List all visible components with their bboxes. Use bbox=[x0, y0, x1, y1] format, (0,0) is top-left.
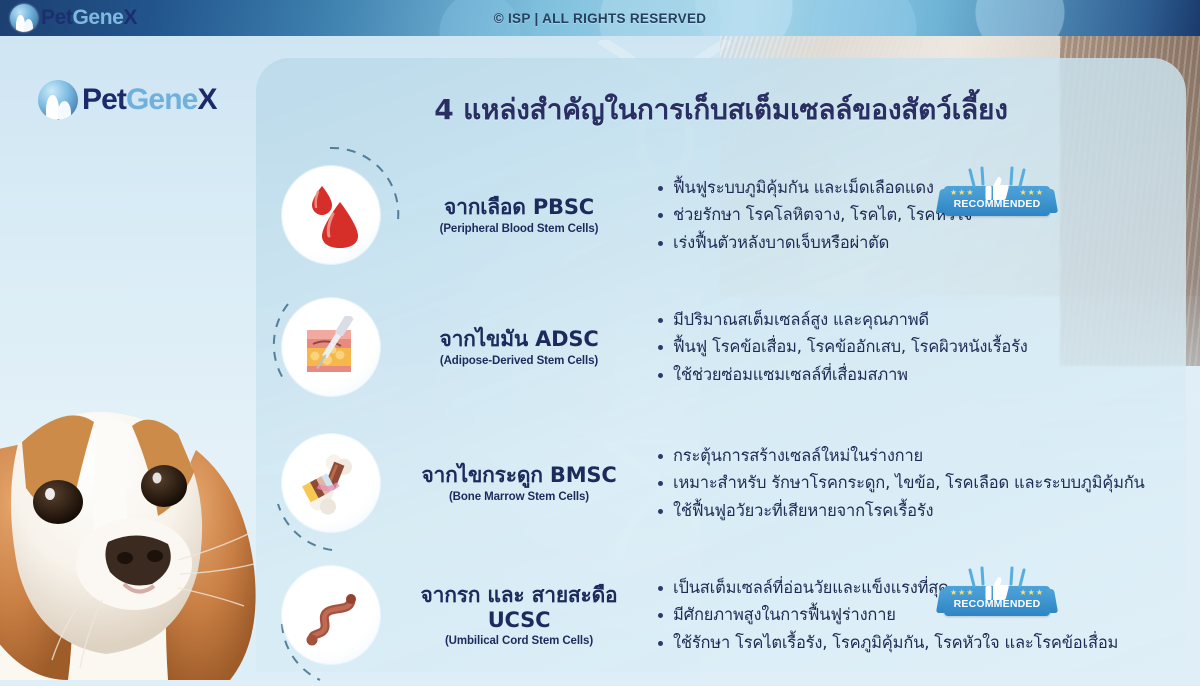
bullet-text: มีปริมาณสเต็มเซลล์สูง และคุณภาพดี bbox=[673, 309, 929, 330]
benefit-list-pbsc: ฟื้นฟูระบบภูมิคุ้มกัน และเม็ดเลือดแดง ช่… bbox=[636, 170, 1186, 259]
top-bar: © ISP | ALL RIGHTS RESERVED PetGeneX bbox=[0, 0, 1200, 36]
list-item: กระตุ้นการสร้างเซลล์ใหม่ในร่างกาย bbox=[658, 445, 1178, 466]
source-subtitle: (Bone Marrow Stem Cells) bbox=[406, 491, 632, 503]
bullet-text: กระตุ้นการสร้างเซลล์ใหม่ในร่างกาย bbox=[673, 445, 923, 466]
list-item: มีปริมาณสเต็มเซลล์สูง และคุณภาพดี bbox=[658, 309, 1178, 330]
topbar-logo-x-text: X bbox=[123, 6, 137, 29]
list-item: เร่งฟื้นตัวหลังบาดเจ็บหรือผ่าตัด bbox=[658, 232, 1178, 253]
blood-drop-icon bbox=[282, 166, 380, 264]
list-item: มีศักยภาพสูงในการฟื้นฟูร่างกาย bbox=[658, 604, 1178, 625]
list-item: ฟื้นฟูระบบภูมิคุ้มกัน และเม็ดเลือดแดง bbox=[658, 177, 1178, 198]
badge-stars-left: ★★★ bbox=[950, 188, 975, 197]
source-row-bmsc[interactable]: จากไขกระดูก BMSC (Bone Marrow Stem Cells… bbox=[256, 418, 1186, 548]
benefit-list-adsc: มีปริมาณสเต็มเซลล์สูง และคุณภาพดี ฟื้นฟู… bbox=[636, 302, 1186, 391]
bullet-text: ช่วยรักษา โรคโลหิตจาง, โรคไต, โรคหัวใจ bbox=[673, 204, 972, 225]
bullet-dot-icon bbox=[658, 641, 663, 646]
skin-fat-syringe-icon bbox=[282, 298, 380, 396]
topbar-logo-gene-text: Gene bbox=[72, 6, 123, 29]
list-item: ช่วยรักษา โรคโลหิตจาง, โรคไต, โรคหัวใจ bbox=[658, 204, 1178, 225]
benefit-list-ucsc: เป็นสเต็มเซลล์ที่อ่อนวัยและแข็งแรงที่สุด… bbox=[636, 570, 1186, 659]
list-item: เหมาะสำหรับ รักษาโรคกระดูก, ไขข้อ, โรคเล… bbox=[658, 472, 1178, 493]
bullet-text: ใช้รักษา โรคไตเรื้อรัง, โรคภูมิคุ้มกัน, … bbox=[673, 632, 1118, 653]
copyright-text: © ISP | ALL RIGHTS RESERVED bbox=[0, 0, 1200, 36]
list-item: ใช้รักษา โรคไตเรื้อรัง, โรคภูมิคุ้มกัน, … bbox=[658, 632, 1178, 653]
bullet-text: เป็นสเต็มเซลล์ที่อ่อนวัยและแข็งแรงที่สุด bbox=[673, 577, 949, 598]
icon-wrap-pbsc bbox=[256, 150, 406, 280]
list-item: ใช้ช่วยซ่อมแซมเซลล์ที่เสื่อมสภาพ bbox=[658, 364, 1178, 385]
cavalier-spaniel-photo bbox=[0, 392, 298, 680]
source-title: จากรก และ สายสะดือ UCSC bbox=[406, 583, 632, 633]
list-item: ใช้ฟื้นฟูอวัยวะที่เสียหายจากโรคเรื้อรัง bbox=[658, 500, 1178, 521]
topbar-wordmark: PetGeneX bbox=[41, 3, 137, 33]
topbar-logo[interactable]: PetGeneX bbox=[10, 3, 137, 33]
bullet-dot-icon bbox=[658, 509, 663, 514]
bullet-dot-icon bbox=[658, 318, 663, 323]
bullet-text: ฟื้นฟูระบบภูมิคุ้มกัน และเม็ดเลือดแดง bbox=[673, 177, 934, 198]
source-label-pbsc: จากเลือด PBSC (Peripheral Blood Stem Cel… bbox=[406, 195, 636, 235]
source-subtitle: (Peripheral Blood Stem Cells) bbox=[406, 223, 632, 235]
bullet-dot-icon bbox=[658, 481, 663, 486]
bullet-text: ใช้ช่วยซ่อมแซมเซลล์ที่เสื่อมสภาพ bbox=[673, 364, 908, 385]
bullet-dot-icon bbox=[658, 454, 663, 459]
logo-gene-text: Gene bbox=[126, 83, 197, 116]
source-label-ucsc: จากรก และ สายสะดือ UCSC (Umbilical Cord … bbox=[406, 583, 636, 648]
bullet-dot-icon bbox=[658, 373, 663, 378]
badge-stars-right: ★★★ bbox=[1019, 588, 1044, 597]
bullet-dot-icon bbox=[658, 241, 663, 246]
source-row-adsc[interactable]: จากไขมัน ADSC (Adipose-Derived Stem Cell… bbox=[256, 282, 1186, 412]
bullet-dot-icon bbox=[658, 345, 663, 350]
source-title: จากเลือด PBSC bbox=[406, 195, 632, 220]
page-title: 4 แหล่งสำคัญในการเก็บสเต็มเซลล์ของสัตว์เ… bbox=[256, 88, 1186, 132]
bullet-dot-icon bbox=[658, 186, 663, 191]
badge-label: RECOMMENDED bbox=[944, 198, 1050, 210]
logo-x-text: X bbox=[197, 83, 216, 116]
list-item: เป็นสเต็มเซลล์ที่อ่อนวัยและแข็งแรงที่สุด bbox=[658, 577, 1178, 598]
bullet-dot-icon bbox=[658, 213, 663, 218]
petgenex-wordmark: PetGeneX bbox=[82, 83, 217, 117]
petgenex-paw-logo-icon bbox=[10, 4, 38, 32]
source-title: จากไขกระดูก BMSC bbox=[406, 463, 632, 488]
bullet-text: เหมาะสำหรับ รักษาโรคกระดูก, ไขข้อ, โรคเล… bbox=[673, 472, 1145, 493]
bullet-text: มีศักยภาพสูงในการฟื้นฟูร่างกาย bbox=[673, 604, 896, 625]
recommended-badge-ucsc: ★★★ ★★★ RECOMMENDED bbox=[944, 568, 1050, 620]
petgenex-circle-logo-icon bbox=[38, 80, 78, 120]
bullet-dot-icon bbox=[658, 586, 663, 591]
logo-pet-text: Pet bbox=[82, 83, 126, 116]
source-subtitle: (Adipose-Derived Stem Cells) bbox=[406, 355, 632, 367]
recommended-badge-pbsc: ★★★ ★★★ RECOMMENDED bbox=[944, 168, 1050, 220]
source-label-bmsc: จากไขกระดูก BMSC (Bone Marrow Stem Cells… bbox=[406, 463, 636, 503]
source-label-adsc: จากไขมัน ADSC (Adipose-Derived Stem Cell… bbox=[406, 327, 636, 367]
badge-label: RECOMMENDED bbox=[944, 598, 1050, 610]
bullet-text: ฟื้นฟู โรคข้อเสื่อม, โรคข้ออักเสบ, โรคผิ… bbox=[673, 336, 1028, 357]
bullet-text: เร่งฟื้นตัวหลังบาดเจ็บหรือผ่าตัด bbox=[673, 232, 889, 253]
source-subtitle: (Umbilical Cord Stem Cells) bbox=[406, 635, 632, 647]
bullet-dot-icon bbox=[658, 613, 663, 618]
benefit-list-bmsc: กระตุ้นการสร้างเซลล์ใหม่ในร่างกาย เหมาะส… bbox=[636, 438, 1186, 527]
topbar-logo-pet-text: Pet bbox=[41, 6, 72, 29]
bullet-text: ใช้ฟื้นฟูอวัยวะที่เสียหายจากโรคเรื้อรัง bbox=[673, 500, 933, 521]
petgenex-logo[interactable]: PetGeneX bbox=[38, 80, 217, 120]
source-title: จากไขมัน ADSC bbox=[406, 327, 632, 352]
badge-stars-left: ★★★ bbox=[950, 588, 975, 597]
list-item: ฟื้นฟู โรคข้อเสื่อม, โรคข้ออักเสบ, โรคผิ… bbox=[658, 336, 1178, 357]
badge-stars-right: ★★★ bbox=[1019, 188, 1044, 197]
